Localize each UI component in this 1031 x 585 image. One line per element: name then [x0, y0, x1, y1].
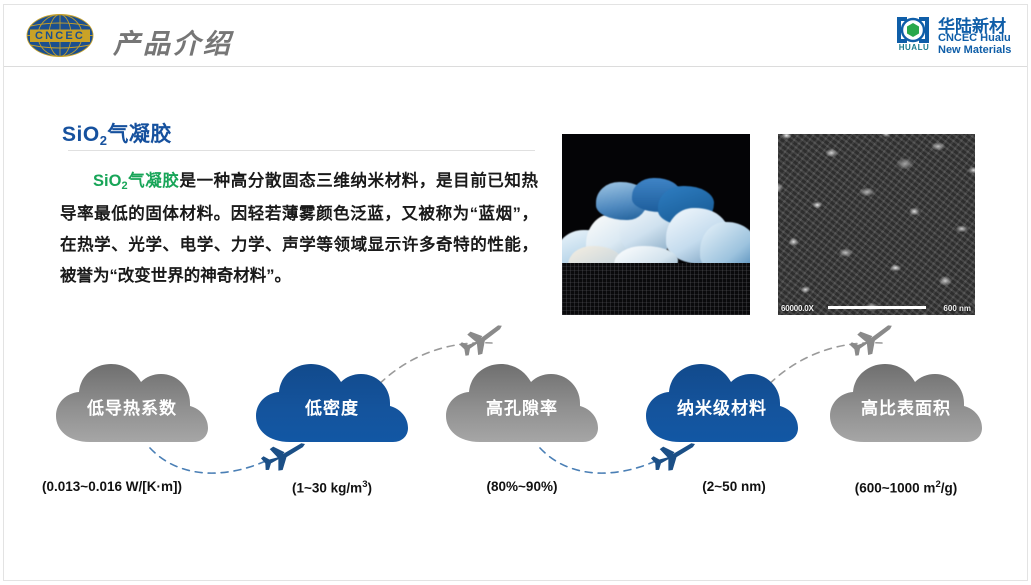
photo-fabric-base: [562, 263, 750, 315]
body-lead-main: SiO: [93, 172, 121, 190]
aerogel-photo: [562, 134, 750, 315]
connector-arc-lower-2: [540, 448, 658, 473]
feature-cloud-2-caption-text: (1~30 kg/m: [292, 481, 362, 496]
page-title: 产品介绍: [113, 22, 233, 61]
svg-text:CNCEC: CNCEC: [35, 30, 85, 42]
hualu-brand-logo: HUALU 华陆新材 CNCEC Hualu New Materials: [893, 12, 1023, 57]
slide-header: CNCEC 产品介绍 HUALU 华陆新材 CNCEC Hualu New Ma…: [0, 0, 1031, 68]
sem-micrograph: 60000.0X 600 nm: [778, 134, 975, 315]
feature-cloud-3-caption: (80%~90%): [417, 479, 627, 494]
feature-cloud-2-caption: (1~30 kg/m3): [227, 479, 437, 496]
feature-cloud-5-label: 高比表面积: [826, 394, 986, 419]
airplane-icon-upper-2: [847, 318, 900, 361]
hualu-english-line2: New Materials: [938, 44, 1011, 56]
sem-scale-bar: [828, 306, 926, 309]
body-lead-highlight: SiO2气凝胶: [93, 172, 179, 190]
feature-cloud-2-label: 低密度: [252, 394, 412, 419]
section-heading-main: SiO: [62, 123, 100, 146]
feature-cloud-5-caption: (600~1000 m2/g): [801, 479, 1011, 496]
feature-cloud-1-caption: (0.013~0.016 W/[K·m]): [7, 479, 217, 494]
feature-cloud-1-caption-text: (0.013~0.016 W/[K·m]): [42, 479, 182, 494]
feature-cloud-4-caption-text: (2~50 nm): [702, 479, 765, 494]
sem-magnification-label: 60000.0X: [781, 304, 814, 313]
section-heading: SiO2气凝胶: [62, 118, 172, 148]
body-paragraph: SiO2气凝胶是一种高分散固态三维纳米材料，是目前已知热导率最低的固体材料。因轻…: [60, 166, 538, 292]
feature-cloud-2-caption-tail: ): [367, 481, 372, 496]
feature-cloud-1-label: 低导热系数: [52, 394, 212, 419]
body-lead-rest: 气凝胶: [128, 172, 180, 190]
sem-scale-value-label: 600 nm: [943, 304, 971, 313]
hualu-english-line1: CNCEC Hualu: [938, 32, 1011, 44]
section-heading-subscript: 2: [100, 133, 108, 148]
feature-cloud-1[interactable]: 低导热系数: [52, 358, 212, 446]
feature-cloud-5-caption-tail: /g): [941, 481, 958, 496]
slide-canvas: CNCEC 产品介绍 HUALU 华陆新材 CNCEC Hualu New Ma…: [0, 0, 1031, 585]
feature-cloud-3[interactable]: 高孔隙率: [442, 358, 602, 446]
cncec-globe-icon: CNCEC: [22, 13, 98, 58]
connector-arc-lower-1: [150, 448, 268, 473]
feature-cloud-4-label: 纳米级材料: [642, 394, 802, 419]
hualu-wordmark: HUALU: [893, 43, 935, 52]
feature-cloud-5[interactable]: 高比表面积: [826, 358, 986, 446]
feature-cloud-4[interactable]: 纳米级材料: [642, 358, 802, 446]
slide-border-bottom: [3, 580, 1028, 581]
airplane-icon-upper-1: [457, 318, 510, 361]
feature-cloud-3-label: 高孔隙率: [442, 394, 602, 419]
sem-nanostructure-texture: [778, 134, 975, 315]
feature-cloud-5-caption-text: (600~1000 m: [855, 481, 936, 496]
header-divider: [4, 66, 1027, 67]
section-heading-rest: 气凝胶: [107, 123, 172, 146]
section-heading-underline: [68, 150, 535, 151]
feature-cloud-2[interactable]: 低密度: [252, 358, 412, 446]
feature-cloud-diagram: 低导热系数 (0.013~0.016 W/[K·m]) 低密度 (1~30 kg…: [0, 318, 1031, 498]
feature-cloud-3-caption-text: (80%~90%): [487, 479, 558, 494]
body-lead-subscript: 2: [121, 180, 127, 192]
